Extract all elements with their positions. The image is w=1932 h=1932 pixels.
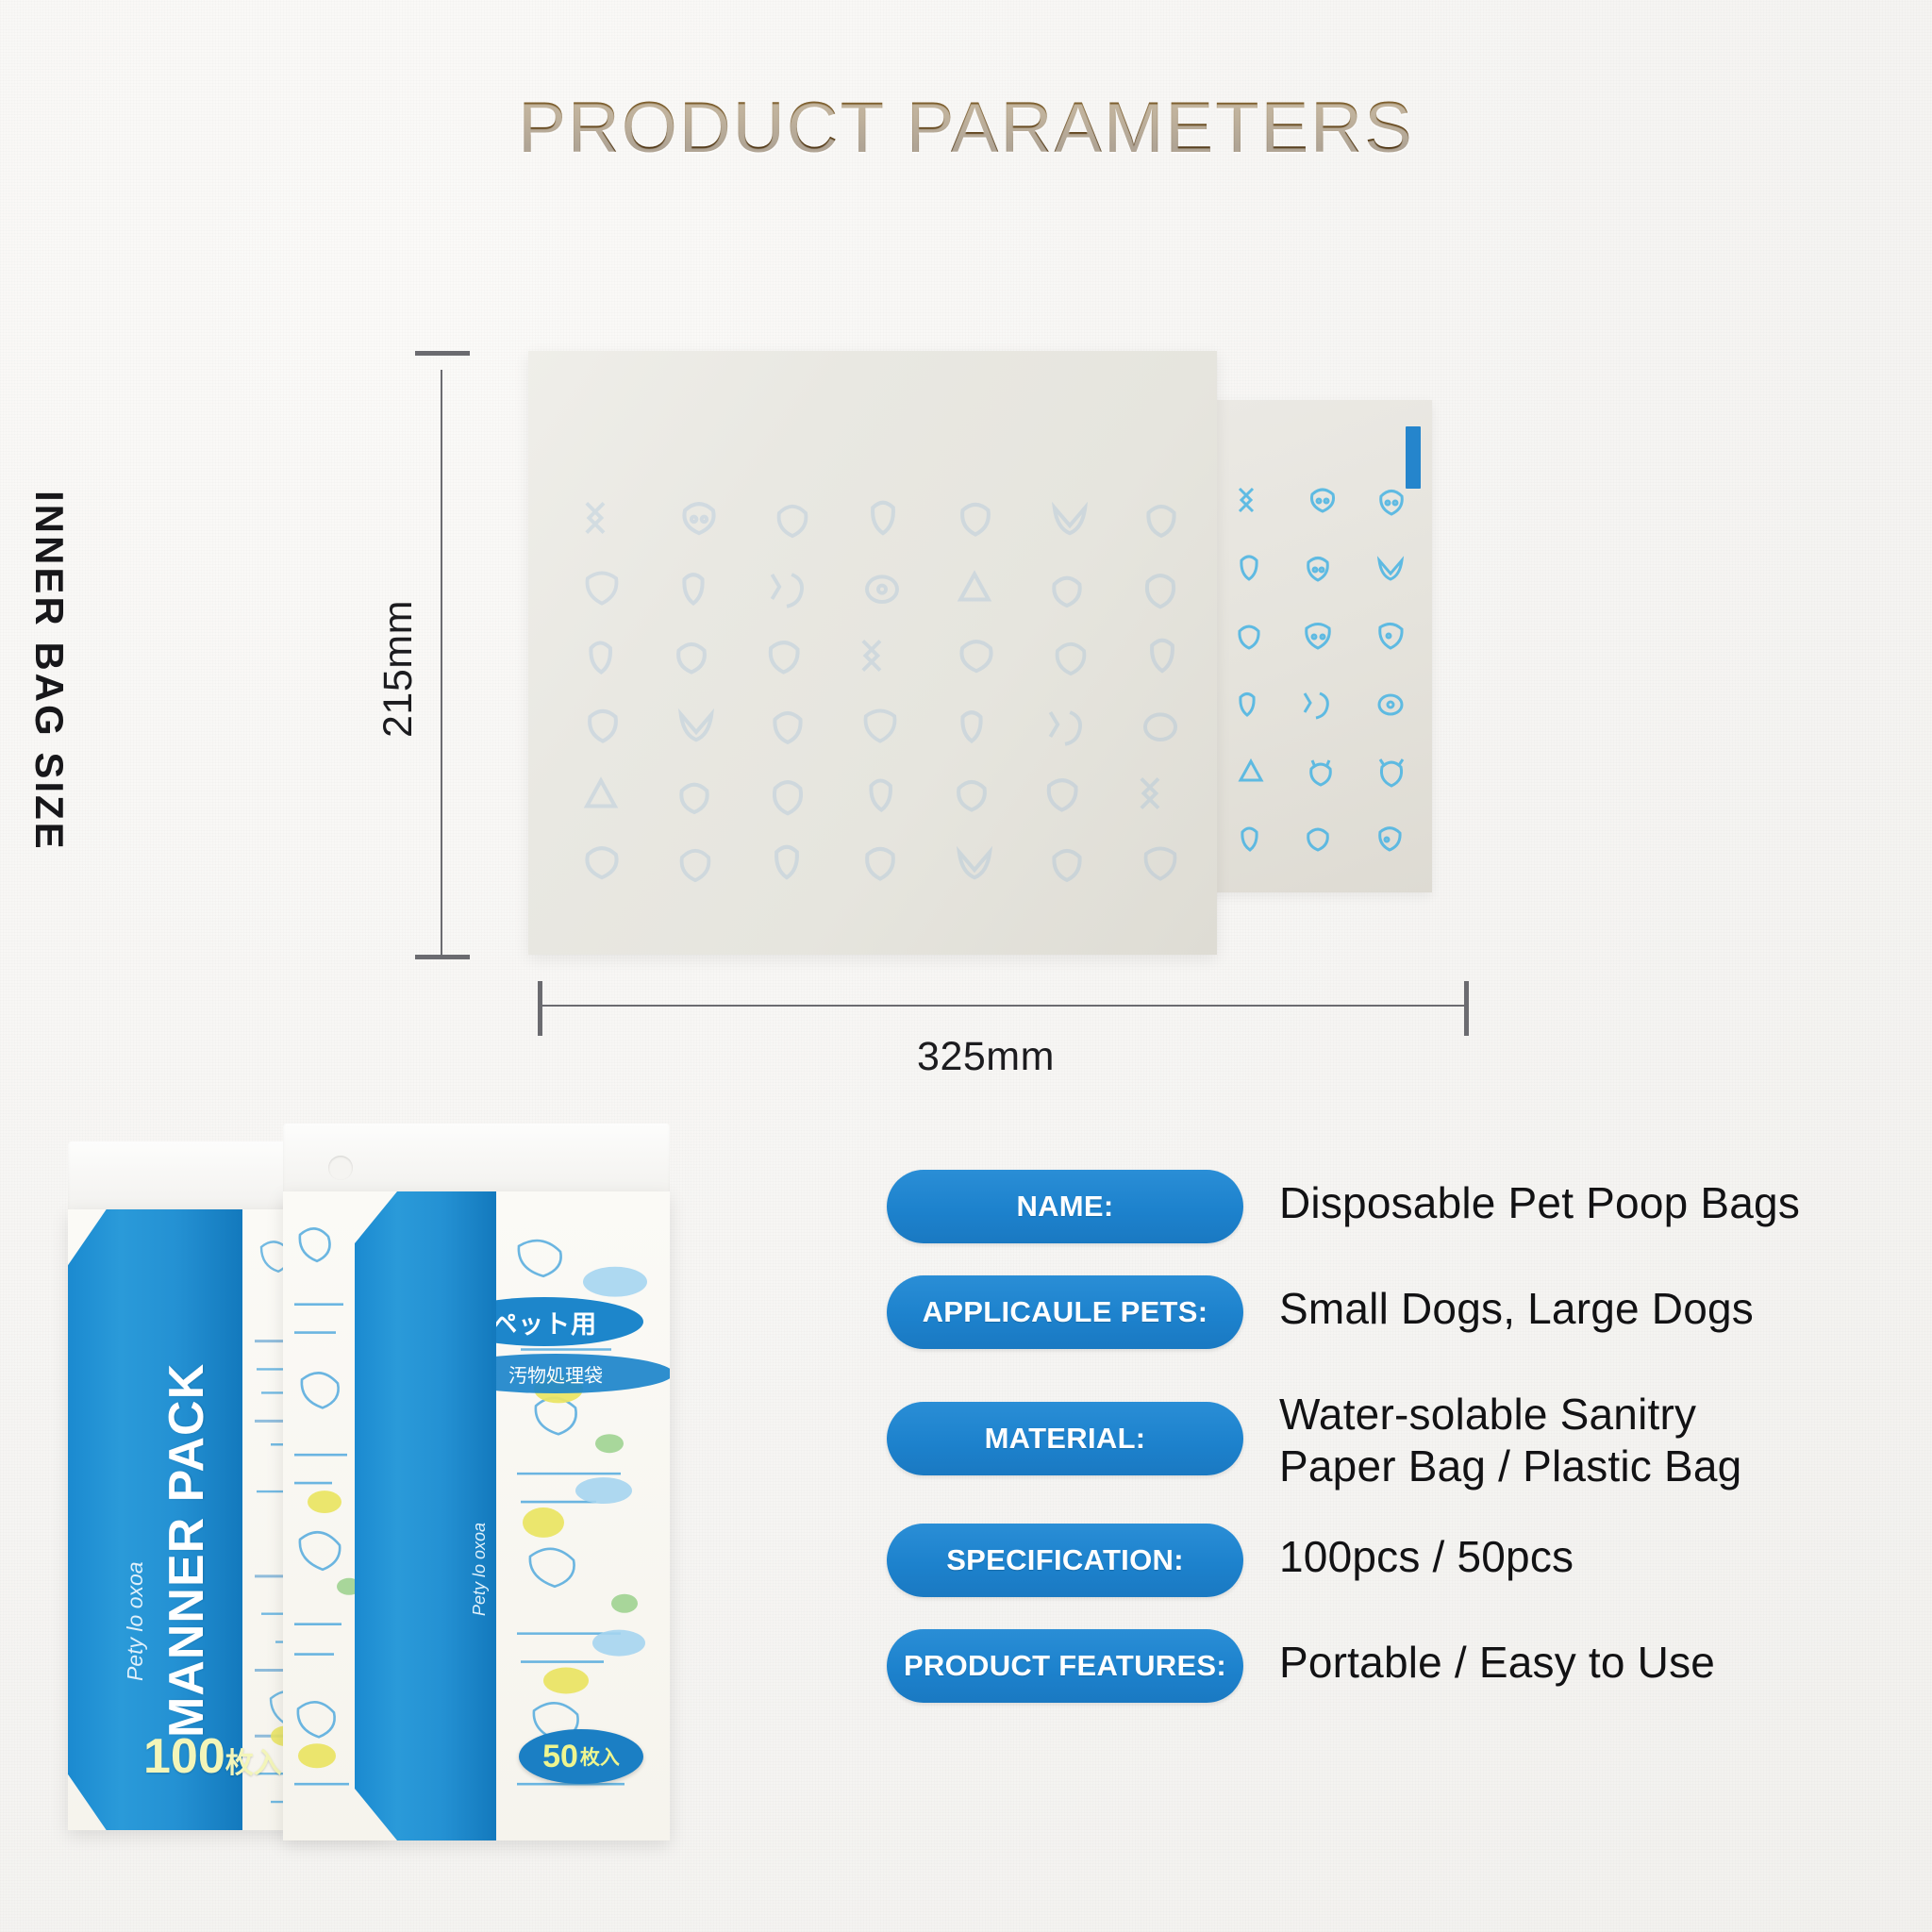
spec-value-material: Water-solable Sanitry Paper Bag / Plasti… (1279, 1381, 1741, 1491)
bag-body: ペット用 汚物処理袋 MANNER PACK Pety lo oxoa 50枚入 (283, 1191, 670, 1840)
bag-brand-subtitle: Pety lo oxoa (123, 1561, 148, 1681)
bag-count-number: 50 (542, 1739, 578, 1775)
spec-row-applicable-pets: APPLICAULE PETS: Small Dogs, Large Dogs (887, 1275, 1887, 1349)
bag-header-strip (283, 1124, 670, 1197)
spec-value-material-line2: Paper Bag / Plastic Bag (1279, 1441, 1741, 1492)
spec-value-product-features: Portable / Easy to Use (1279, 1629, 1715, 1689)
spec-value-applicable-pets: Small Dogs, Large Dogs (1279, 1275, 1754, 1335)
dimension-width-label: 325mm (917, 1034, 1055, 1080)
bag-brand-name: MANNER PACK (158, 1363, 215, 1738)
spec-label-specification: SPECIFICATION: (887, 1524, 1243, 1597)
bag-count-100: 100枚入 (143, 1728, 282, 1785)
packaging-photo-group: MANNER PACK Pety lo oxoa 100枚入 (57, 1118, 830, 1873)
hang-hole-icon (328, 1156, 353, 1180)
spec-label-applicable-pets: APPLICAULE PETS: (887, 1275, 1243, 1349)
product-bag-50pcs: ペット用 汚物処理袋 MANNER PACK Pety lo oxoa 50枚入 (283, 1124, 670, 1840)
dimension-cap-left (538, 981, 542, 1036)
dimension-cap-bottom (415, 955, 470, 959)
spec-value-material-line1: Water-solable Sanitry (1279, 1389, 1741, 1441)
sheet-print-pattern-front (555, 483, 1207, 898)
bag-blue-panel: MANNER PACK Pety lo oxoa (355, 1191, 496, 1840)
spec-row-name: NAME: Disposable Pet Poop Bags (887, 1170, 1887, 1243)
bag-count-unit: 枚入 (225, 1748, 282, 1779)
spec-table: NAME: Disposable Pet Poop Bags APPLICAUL… (887, 1170, 1887, 1735)
spec-label-name: NAME: (887, 1170, 1243, 1243)
inner-bag-sheet-front (528, 351, 1217, 955)
bag-count-number: 100 (143, 1729, 225, 1784)
bag-brand-subtitle: Pety lo oxoa (470, 1523, 490, 1616)
dimension-cap-right (1464, 981, 1469, 1036)
spec-row-material: MATERIAL: Water-solable Sanitry Paper Ba… (887, 1381, 1887, 1491)
spec-value-specification: 100pcs / 50pcs (1279, 1524, 1574, 1583)
bag-count-unit: 枚入 (580, 1742, 620, 1771)
dimension-width-label-wrap: 325mm (0, 1034, 1932, 1080)
spec-row-product-features: PRODUCT FEATURES: Portable / Easy to Use (887, 1629, 1887, 1703)
dimension-line-vertical (441, 370, 442, 958)
dimension-height-label: 215mm (375, 600, 422, 738)
dimension-cap-top (415, 351, 470, 356)
spec-label-product-features: PRODUCT FEATURES: (887, 1629, 1243, 1703)
inner-bag-photo-group: 215mm 325mm (0, 0, 1932, 1094)
sheet-print-pattern-back (1216, 466, 1426, 874)
bag-count-50: 50枚入 (519, 1729, 643, 1784)
spec-label-material: MATERIAL: (887, 1402, 1243, 1475)
inner-bag-sheet-back (1210, 400, 1432, 892)
spec-value-name: Disposable Pet Poop Bags (1279, 1170, 1800, 1229)
spec-row-specification: SPECIFICATION: 100pcs / 50pcs (887, 1524, 1887, 1597)
dimension-line-horizontal (540, 1005, 1469, 1007)
